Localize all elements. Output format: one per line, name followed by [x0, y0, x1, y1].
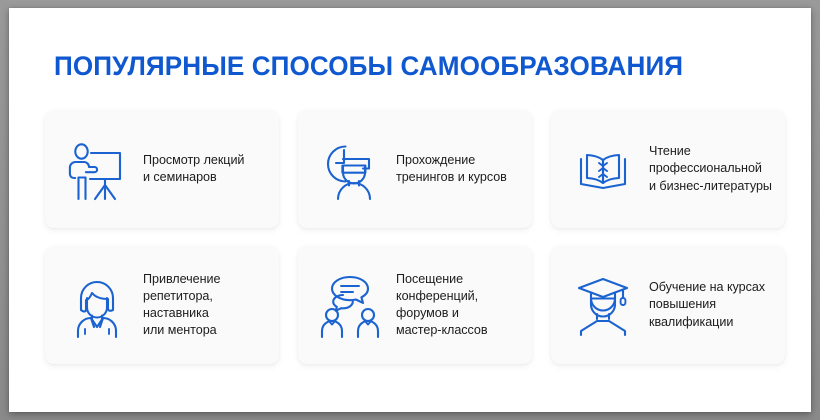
clock-vr-person-icon — [314, 133, 386, 205]
cards-grid: Просмотр лекций и семинаров — [45, 110, 785, 364]
card-label: Просмотр лекций и семинаров — [143, 152, 267, 186]
card-tutor-mentor[interactable]: Привлечение репетитора, наставника или м… — [45, 246, 279, 364]
card-viewing-lectures[interactable]: Просмотр лекций и семинаров — [45, 110, 279, 228]
card-qualification-courses[interactable]: Обучение на курсах повышения квалификаци… — [551, 246, 785, 364]
presenter-board-icon — [61, 133, 133, 205]
slide-canvas: ПОПУЛЯРНЫЕ СПОСОБЫ САМООБРАЗОВАНИЯ — [9, 8, 811, 412]
card-label: Чтение профессиональной и бизнес-литерат… — [649, 143, 773, 195]
card-label: Посещение конференций, форумов и мастер-… — [396, 271, 520, 340]
graduate-cap-person-icon — [567, 269, 639, 341]
page-title: ПОПУЛЯРНЫЕ СПОСОБЫ САМООБРАЗОВАНИЯ — [54, 51, 683, 82]
card-reading-literature[interactable]: Чтение профессиональной и бизнес-литерат… — [551, 110, 785, 228]
card-conferences-forums[interactable]: Посещение конференций, форумов и мастер-… — [298, 246, 532, 364]
card-label: Прохождение тренингов и курсов — [396, 152, 520, 186]
female-tutor-icon — [61, 269, 133, 341]
people-speech-bubbles-icon — [314, 269, 386, 341]
card-label: Привлечение репетитора, наставника или м… — [143, 271, 267, 340]
open-book-icon — [567, 133, 639, 205]
screenshot-backdrop: ПОПУЛЯРНЫЕ СПОСОБЫ САМООБРАЗОВАНИЯ — [0, 0, 820, 420]
card-trainings-courses[interactable]: Прохождение тренингов и курсов — [298, 110, 532, 228]
card-label: Обучение на курсах повышения квалификаци… — [649, 279, 773, 331]
